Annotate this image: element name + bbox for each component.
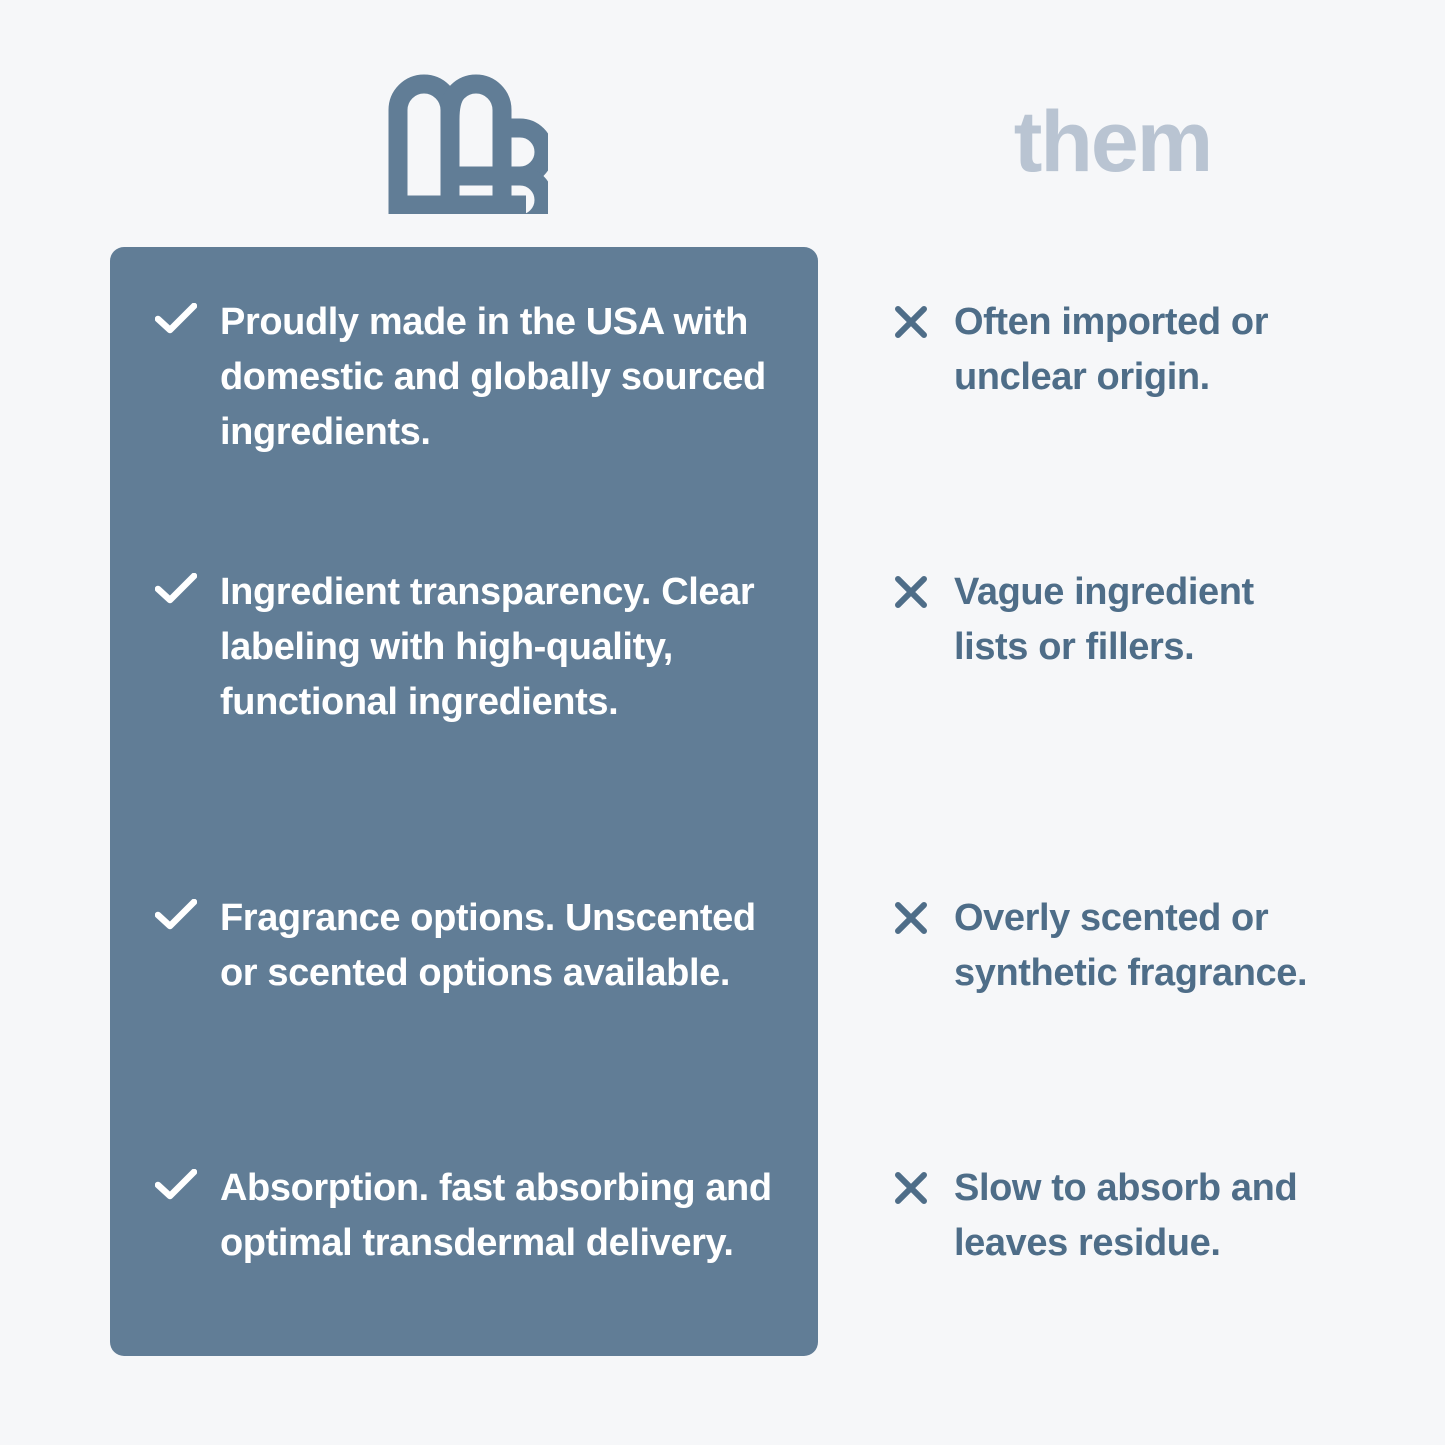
them-list-item: Slow to absorb and leaves residue. [890,1161,1335,1361]
them-list-item-label: Often imported or unclear origin. [954,295,1335,405]
check-icon [154,1161,198,1209]
check-icon [154,295,198,343]
us-list-item-label: Proudly made in the USA with domestic an… [220,295,776,460]
us-list-item: Absorption. fast absorbing and optimal t… [154,1161,776,1361]
us-list-item-label: Ingredient transparency. Clear labeling … [220,565,776,730]
close-x-icon [890,891,932,939]
them-list-item-label: Overly scented or synthetic fragrance. [954,891,1335,1001]
them-list-item: Often imported or unclear origin. [890,295,1335,495]
check-icon [154,565,198,613]
mb-monogram-logo [110,60,818,220]
them-column-title: them [890,62,1335,222]
them-list-item: Vague ingredient lists or fillers. [890,565,1335,821]
close-x-icon [890,565,932,613]
close-x-icon [890,1161,932,1209]
comparison-infographic: them Proudly made in the USA with domest… [0,0,1445,1445]
us-list-item: Ingredient transparency. Clear labeling … [154,565,776,821]
us-list-item: Proudly made in the USA with domestic an… [154,295,776,495]
us-list-item-label: Absorption. fast absorbing and optimal t… [220,1161,776,1271]
us-list-item: Fragrance options. Unscented or scented … [154,891,776,1091]
them-list-item-label: Slow to absorb and leaves residue. [954,1161,1335,1271]
them-list-item: Overly scented or synthetic fragrance. [890,891,1335,1091]
check-icon [154,891,198,939]
them-list-item-label: Vague ingredient lists or fillers. [954,565,1335,675]
them-feature-column: Often imported or unclear origin. Vague … [890,247,1335,1356]
close-x-icon [890,295,932,343]
us-list-item-label: Fragrance options. Unscented or scented … [220,891,776,1001]
us-feature-card: Proudly made in the USA with domestic an… [110,247,818,1356]
header-row: them [0,0,1445,247]
